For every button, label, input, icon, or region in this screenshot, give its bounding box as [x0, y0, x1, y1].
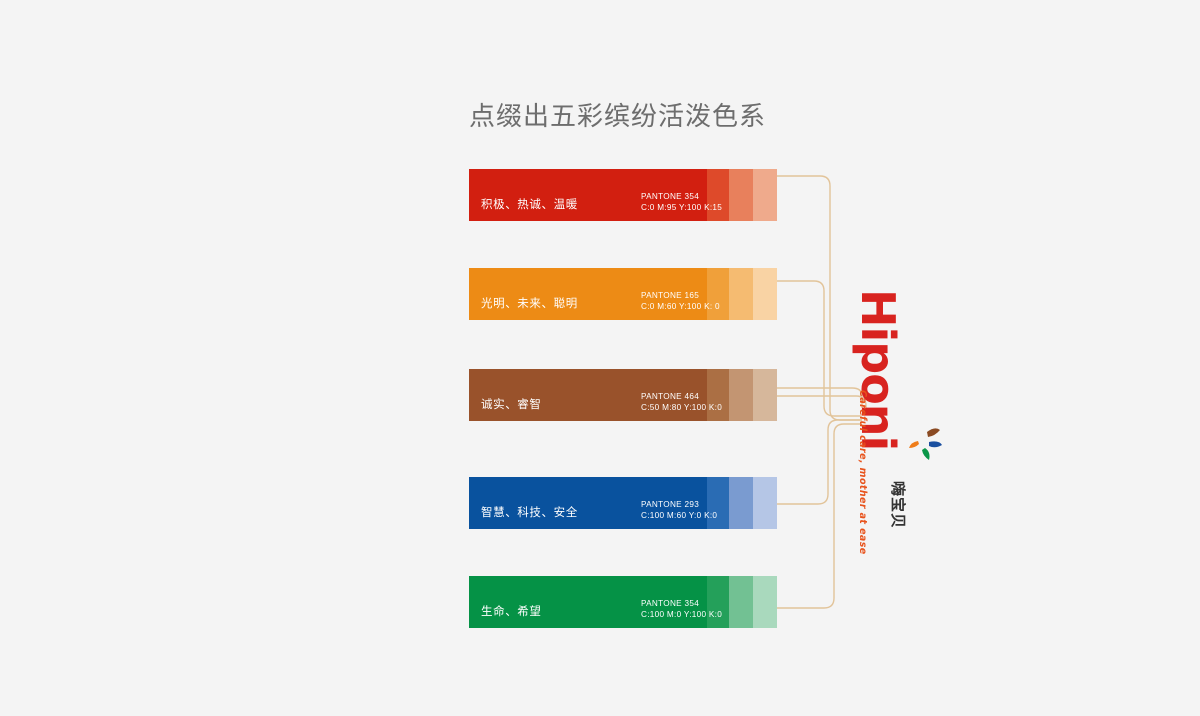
swatch-cmyk-values: C:100 M:0 Y:100 K:0	[641, 609, 722, 620]
color-swatch-row[interactable]: 智慧、科技、安全PANTONE 293C:100 M:60 Y:0 K:0	[469, 477, 777, 529]
swatch-pantone-code: PANTONE 293	[641, 499, 717, 510]
swatch-tint	[753, 169, 777, 221]
swatch-base-color: 生命、希望PANTONE 354C:100 M:0 Y:100 K:0	[469, 576, 707, 628]
color-swatch-row[interactable]: 生命、希望PANTONE 354C:100 M:0 Y:100 K:0	[469, 576, 777, 628]
brand-logo: Hiponi Careful care, mother at ease 嗨宝贝	[855, 285, 965, 535]
swatch-cmyk-values: C:0 M:60 Y:100 K: 0	[641, 301, 720, 312]
swatch-tint	[729, 477, 753, 529]
swatch-pantone-code: PANTONE 354	[641, 191, 722, 202]
swatch-base-color: 积极、热诚、温暖PANTONE 354C:0 M:95 Y:100 K:15	[469, 169, 707, 221]
swatch-cmyk-values: C:100 M:60 Y:0 K:0	[641, 510, 717, 521]
swatch-keywords: 生命、希望	[481, 603, 542, 619]
swatch-tint	[729, 369, 753, 421]
swatch-keywords: 诚实、睿智	[481, 396, 542, 412]
swatch-tint	[753, 268, 777, 320]
swatch-base-color: 光明、未来、聪明PANTONE 165C:0 M:60 Y:100 K: 0	[469, 268, 707, 320]
logo-tagline: Careful care, mother at ease	[857, 390, 868, 555]
swatch-tint	[753, 576, 777, 628]
color-swatch-row[interactable]: 光明、未来、聪明PANTONE 165C:0 M:60 Y:100 K: 0	[469, 268, 777, 320]
swatch-tint	[729, 268, 753, 320]
swatch-pantone-code: PANTONE 354	[641, 598, 722, 609]
swatch-keywords: 积极、热诚、温暖	[481, 196, 578, 212]
swatch-keywords: 光明、未来、聪明	[481, 295, 578, 311]
swatch-spec: PANTONE 354C:0 M:95 Y:100 K:15	[641, 191, 722, 213]
page-title: 点缀出五彩缤纷活泼色系	[469, 96, 766, 133]
swatch-spec: PANTONE 354C:100 M:0 Y:100 K:0	[641, 598, 722, 620]
color-swatch-row[interactable]: 诚实、睿智PANTONE 464C:50 M:80 Y:100 K:0	[469, 369, 777, 421]
color-swatch-row[interactable]: 积极、热诚、温暖PANTONE 354C:0 M:95 Y:100 K:15	[469, 169, 777, 221]
swatch-cmyk-values: C:50 M:80 Y:100 K:0	[641, 402, 722, 413]
swatch-spec: PANTONE 165C:0 M:60 Y:100 K: 0	[641, 290, 720, 312]
slide-canvas: 点缀出五彩缤纷活泼色系 积极、热诚、温暖PANTONE 354C:0 M:95 …	[0, 0, 1200, 716]
swatch-base-color: 诚实、睿智PANTONE 464C:50 M:80 Y:100 K:0	[469, 369, 707, 421]
swatch-pantone-code: PANTONE 165	[641, 290, 720, 301]
swatch-base-color: 智慧、科技、安全PANTONE 293C:100 M:60 Y:0 K:0	[469, 477, 707, 529]
swatch-tint	[753, 477, 777, 529]
swatch-tint	[729, 576, 753, 628]
logo-chinese-name: 嗨宝贝	[888, 481, 909, 529]
swatch-tint	[753, 369, 777, 421]
swatch-spec: PANTONE 464C:50 M:80 Y:100 K:0	[641, 391, 722, 413]
swatch-cmyk-values: C:0 M:95 Y:100 K:15	[641, 202, 722, 213]
swatch-tint	[729, 169, 753, 221]
swatch-spec: PANTONE 293C:100 M:60 Y:0 K:0	[641, 499, 717, 521]
logo-petals-icon	[905, 422, 953, 474]
swatch-pantone-code: PANTONE 464	[641, 391, 722, 402]
swatch-keywords: 智慧、科技、安全	[481, 504, 578, 520]
